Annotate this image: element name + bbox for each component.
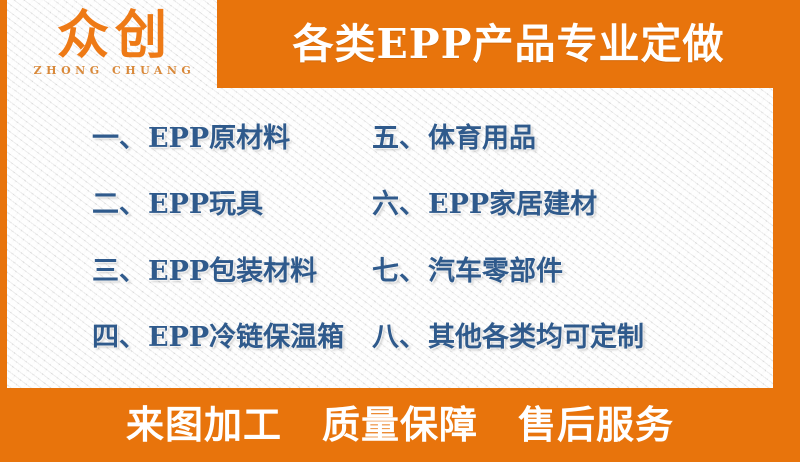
product-item-5-index: 五、 <box>372 116 426 155</box>
product-item-5-label: 体育用品 <box>428 116 536 155</box>
header-title: 各类EPP产品专业定做 <box>293 24 725 65</box>
product-item-3-label: EPP包装材料 <box>148 249 317 288</box>
product-item-7-index: 七、 <box>372 249 426 288</box>
product-item-6-label: EPP家居建材 <box>428 182 597 221</box>
product-item-5: 五、 体育用品 <box>360 102 773 169</box>
product-item-4: 四、 EPP冷链保温箱 <box>7 302 360 369</box>
product-item-8-index: 八、 <box>372 315 426 354</box>
product-item-1-label: EPP原材料 <box>148 116 290 155</box>
footer-item-3: 售后服务 <box>518 406 674 444</box>
footer-banner: 来图加工 质量保障 售后服务 <box>0 388 800 462</box>
brand-logo: 众创 ZHONG CHUANG <box>7 0 217 88</box>
product-item-8-label: 其他各类均可定制 <box>428 315 644 354</box>
product-item-2-label: EPP玩具 <box>148 182 263 221</box>
product-item-2-index: 二、 <box>92 182 146 221</box>
footer-item-2: 质量保障 <box>322 406 478 444</box>
product-item-1-index: 一、 <box>92 116 146 155</box>
product-item-4-label: EPP冷链保温箱 <box>148 315 344 354</box>
product-item-6-index: 六、 <box>372 182 426 221</box>
header-banner: 各类EPP产品专业定做 <box>217 0 800 88</box>
product-item-7: 七、 汽车零部件 <box>360 235 773 302</box>
product-category-list: 一、 EPP原材料 五、 体育用品 二、 EPP玩具 六、 EPP家居建材 三、… <box>7 88 773 388</box>
product-item-2: 二、 EPP玩具 <box>7 169 360 236</box>
product-item-1: 一、 EPP原材料 <box>7 102 360 169</box>
brand-logo-pinyin: ZHONG CHUANG <box>29 64 196 77</box>
product-item-3: 三、 EPP包装材料 <box>7 235 360 302</box>
product-item-7-label: 汽车零部件 <box>428 249 563 288</box>
product-item-4-index: 四、 <box>92 315 146 354</box>
product-item-3-index: 三、 <box>92 249 146 288</box>
brand-logo-chinese: 众创 <box>51 11 173 62</box>
product-item-6: 六、 EPP家居建材 <box>360 169 773 236</box>
product-item-8: 八、 其他各类均可定制 <box>360 302 773 369</box>
footer-item-1: 来图加工 <box>126 406 282 444</box>
promo-poster: 众创 ZHONG CHUANG 各类EPP产品专业定做 一、 EPP原材料 五、… <box>0 0 800 462</box>
